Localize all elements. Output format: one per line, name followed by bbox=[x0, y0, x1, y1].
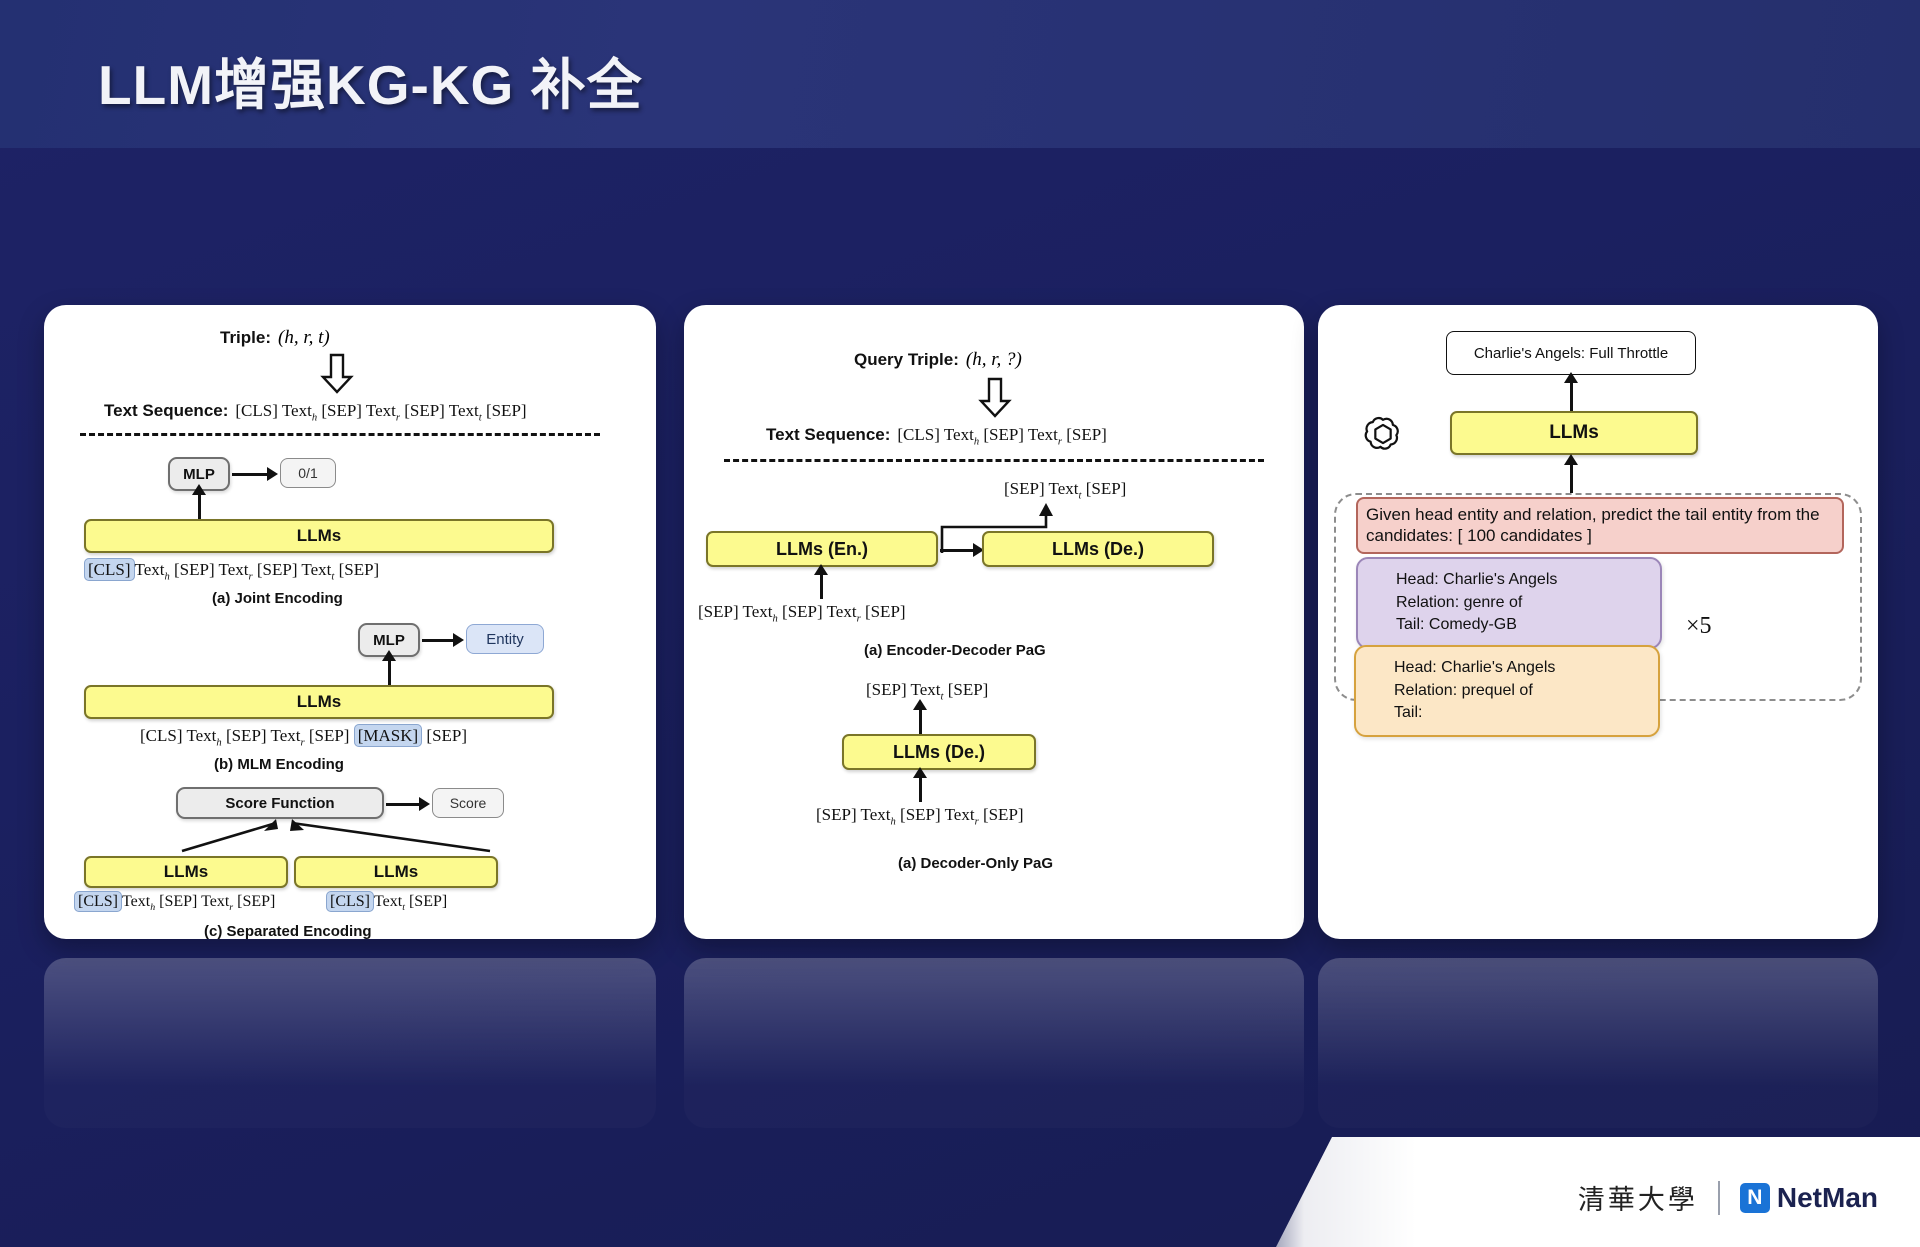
instruction-prompt: Given head entity and relation, predict … bbox=[1356, 497, 1844, 554]
llms-box-b[interactable]: LLMs bbox=[84, 685, 554, 719]
query-triple-label: Query Triple: bbox=[854, 350, 959, 370]
score-function-box[interactable]: Score Function bbox=[176, 787, 384, 819]
example-tail: Tail: Comedy-GB bbox=[1396, 614, 1646, 637]
caption-decoder-only: (a) Decoder-Only PaG bbox=[898, 855, 1053, 872]
slide: LLM增强KG-KG 补全 Triple: (h, r, t) Text Seq… bbox=[0, 0, 1920, 1247]
llms-box-c-right[interactable]: LLMs bbox=[294, 856, 498, 888]
output-box-a: 0/1 bbox=[280, 458, 336, 488]
caption-c: (c) Separated Encoding bbox=[204, 923, 372, 940]
example-triple-box: Head: Charlie's Angels Relation: genre o… bbox=[1356, 557, 1662, 649]
triple-row: Triple: (h, r, t) bbox=[220, 327, 330, 349]
llms-box-c-left[interactable]: LLMs bbox=[84, 856, 288, 888]
repeat-count-label: ×5 bbox=[1686, 613, 1712, 640]
panel-pag-paradigms: Query Triple: (h, r, ?) Text Sequence: [… bbox=[684, 305, 1304, 939]
triple-label: Triple: bbox=[220, 328, 271, 348]
cls-token-c-left: [CLS] bbox=[74, 891, 122, 912]
decorative-card-3 bbox=[1318, 958, 1878, 1128]
netman-logo: N NetMan bbox=[1740, 1182, 1878, 1214]
divider-dashed-2 bbox=[724, 459, 1264, 462]
tokens-row-c-left: [CLS]Texth [SEP] Textr [SEP] bbox=[74, 893, 275, 913]
arrows-to-score-function bbox=[80, 817, 560, 859]
arrow-llms-to-answer bbox=[1570, 381, 1573, 411]
arrow-score-function-to-score bbox=[386, 803, 420, 806]
divider-dashed-1 bbox=[80, 433, 600, 436]
slide-header: LLM增强KG-KG 补全 bbox=[0, 0, 1920, 148]
cls-token-c-right: [CLS] bbox=[326, 891, 374, 912]
score-box: Score bbox=[432, 788, 504, 818]
query-tail: Tail: bbox=[1394, 702, 1644, 725]
down-arrow-icon bbox=[320, 353, 354, 395]
query-triple-value: (h, r, ?) bbox=[966, 349, 1022, 371]
tokens-row-b: [CLS] Texth [SEP] Textr [SEP] [MASK] [SE… bbox=[140, 726, 467, 748]
text-sequence-row-2: Text Sequence: [CLS] Texth [SEP] Textr [… bbox=[766, 425, 1107, 447]
example-head: Head: Charlie's Angels bbox=[1396, 569, 1646, 592]
arrow-decoder-to-tokens bbox=[919, 708, 922, 734]
arrow-prompt-to-llms bbox=[1570, 463, 1573, 493]
caption-b: (b) MLM Encoding bbox=[214, 756, 344, 773]
example-relation: Relation: genre of bbox=[1396, 592, 1646, 615]
university-logo-text: 清華大學 bbox=[1578, 1178, 1698, 1217]
text-sequence-label-2: Text Sequence: bbox=[766, 425, 890, 445]
arrow-tokens-to-encoder bbox=[820, 573, 823, 599]
caption-encoder-decoder: (a) Encoder-Decoder PaG bbox=[864, 642, 1046, 659]
netman-logo-text: NetMan bbox=[1777, 1182, 1878, 1214]
tokens-bottom-encdec: [SEP] Texth [SEP] Textr [SEP] bbox=[698, 602, 906, 624]
llms-box-a[interactable]: LLMs bbox=[84, 519, 554, 553]
tokens-row-a: [CLS]Texth [SEP] Textr [SEP] Textt [SEP] bbox=[84, 560, 379, 582]
tokens-row-c-right: [CLS]Textt [SEP] bbox=[326, 893, 447, 913]
arrow-mlp-to-output-a bbox=[232, 473, 268, 476]
arrow-llms-to-mlp-a bbox=[198, 493, 201, 519]
arrow-encoder-to-decoder bbox=[940, 549, 974, 552]
arrow-tokens-to-decoder-only bbox=[919, 776, 922, 802]
text-sequence-row: Text Sequence: [CLS] Texth [SEP] Textr [… bbox=[104, 401, 527, 423]
entity-box-b: Entity bbox=[466, 624, 544, 654]
llms-decoder-box[interactable]: LLMs (De.) bbox=[982, 531, 1214, 567]
tokens-top-encdec: [SEP] Textt [SEP] bbox=[1004, 479, 1126, 501]
text-sequence-label: Text Sequence: bbox=[104, 401, 228, 421]
cls-token-a: [CLS] bbox=[84, 558, 135, 581]
down-arrow-icon-2 bbox=[978, 377, 1012, 419]
text-sequence-value-2: [CLS] Texth [SEP] Textr [SEP] bbox=[897, 425, 1106, 447]
footer-divider bbox=[1718, 1181, 1720, 1215]
openai-logo-icon bbox=[1362, 413, 1404, 455]
page-title: LLM增强KG-KG 补全 bbox=[98, 40, 643, 120]
llms-encoder-box[interactable]: LLMs (En.) bbox=[706, 531, 938, 567]
panel-prompt-example: Charlie's Angels: Full Throttle LLMs Giv… bbox=[1318, 305, 1878, 939]
panel-encoding-paradigms: Triple: (h, r, t) Text Sequence: [CLS] T… bbox=[44, 305, 656, 939]
footer-logos: 清華大學 N NetMan bbox=[1578, 1178, 1878, 1217]
caption-a: (a) Joint Encoding bbox=[212, 590, 343, 607]
netman-mark-icon: N bbox=[1740, 1183, 1770, 1213]
text-sequence-value: [CLS] Texth [SEP] Textr [SEP] Textt [SEP… bbox=[235, 401, 526, 423]
answer-box: Charlie's Angels: Full Throttle bbox=[1446, 331, 1696, 375]
llms-decoder-only-box[interactable]: LLMs (De.) bbox=[842, 734, 1036, 770]
triple-value: (h, r, t) bbox=[278, 327, 330, 349]
decorative-card-1 bbox=[44, 958, 656, 1128]
query-head: Head: Charlie's Angels bbox=[1394, 657, 1644, 680]
mask-token-b: [MASK] bbox=[354, 724, 422, 747]
query-triple-box: Head: Charlie's Angels Relation: prequel… bbox=[1354, 645, 1660, 737]
arrow-mlp-to-entity-b bbox=[422, 639, 454, 642]
query-triple-row: Query Triple: (h, r, ?) bbox=[854, 349, 1022, 371]
llms-box-panel3[interactable]: LLMs bbox=[1450, 411, 1698, 455]
decorative-card-2 bbox=[684, 958, 1304, 1128]
tokens-bottom-deconly: [SEP] Texth [SEP] Textr [SEP] bbox=[816, 805, 1024, 827]
query-relation: Relation: prequel of bbox=[1394, 680, 1644, 703]
arrow-llms-to-mlp-b bbox=[388, 659, 391, 685]
